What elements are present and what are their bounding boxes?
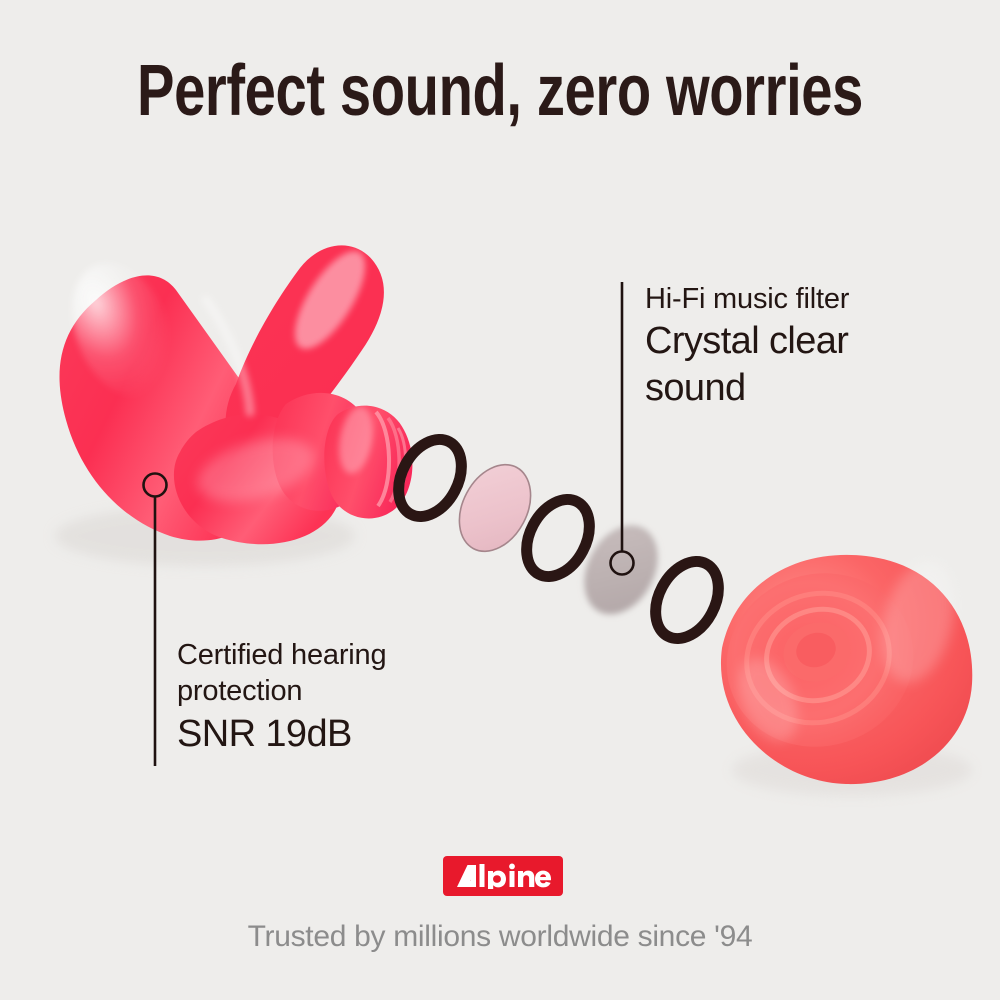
ear-tip-ring-2 — [755, 596, 882, 714]
nozzle-rib-1 — [376, 412, 389, 506]
callout-right-headline: Crystal clear sound — [645, 318, 945, 412]
ear-tip-ring-3 — [776, 614, 859, 690]
leader-line-right — [611, 282, 634, 575]
ear-tip-bowl — [704, 549, 936, 771]
nozzle-rib-3 — [398, 428, 406, 494]
body-edge-highlight — [206, 300, 250, 412]
earplug-core — [174, 414, 341, 544]
callout-right-kicker: Hi-Fi music filter — [645, 280, 945, 318]
infographic-canvas: Perfect sound, zero worries — [0, 0, 1000, 1000]
callout-crystal-clear-sound: Hi-Fi music filter Crystal clear sound — [645, 280, 945, 412]
leader-line-left — [144, 474, 167, 767]
nozzle-rib-2 — [388, 418, 399, 502]
ear-tip-dome — [721, 555, 972, 784]
callout-certified-hearing-protection: Certified hearing protection SNR 19dB — [177, 637, 477, 757]
earplug-right-arm — [225, 245, 383, 470]
earplug-body — [53, 241, 412, 566]
product-illustration — [0, 0, 1000, 1000]
leader-marker-right — [611, 552, 634, 575]
body-gloss-left — [53, 248, 191, 412]
o-ring-3 — [643, 551, 731, 650]
ear-tip-gloss-right — [870, 554, 966, 691]
alpine-wordmark — [455, 863, 551, 889]
callout-left-headline: SNR 19dB — [177, 711, 477, 757]
body-gloss-right-arm — [282, 241, 379, 359]
earplug-left-arm — [59, 275, 275, 540]
earplug-shoulder — [273, 393, 373, 511]
callout-left-kicker: Certified hearing protection — [177, 637, 477, 709]
page-title: Perfect sound, zero worries — [110, 52, 890, 130]
o-ring-2 — [514, 489, 602, 588]
footer-tagline: Trusted by millions worldwide since '94 — [0, 918, 1000, 956]
o-ring-1 — [386, 429, 474, 528]
ear-tip — [704, 549, 972, 796]
ear-tip-ring-1 — [730, 575, 907, 741]
leader-marker-left — [144, 474, 167, 497]
ear-tip-bore — [792, 628, 841, 673]
ear-tip-gloss-left — [726, 649, 809, 751]
filter-disc-pink — [445, 452, 545, 563]
alpine-logo — [443, 856, 563, 896]
nozzle-gloss — [334, 404, 377, 477]
filter-disc-grey — [571, 514, 671, 625]
body-gloss-core — [191, 427, 322, 514]
earplug-nozzle — [324, 406, 412, 519]
